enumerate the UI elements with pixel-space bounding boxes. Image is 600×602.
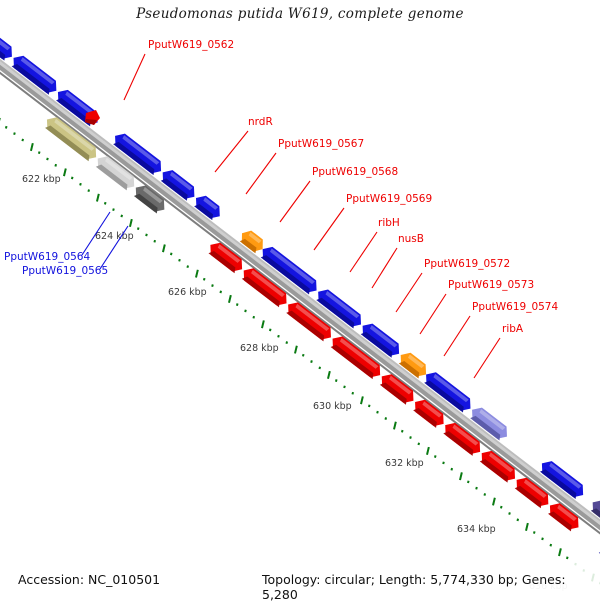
gene-label-ribh[interactable]: ribH (378, 217, 400, 229)
annotation-leader-line (280, 181, 310, 222)
annotation-leader-line (474, 338, 500, 378)
annotation-leader-line (314, 208, 344, 250)
genome-map-canvas[interactable]: Pseudomonas putida W619, complete genome… (0, 0, 600, 600)
gene-blue-u1[interactable] (0, 27, 12, 61)
ruler-tick-label: 632 kbp (385, 458, 424, 469)
gene-label-pputw619-0564[interactable]: PputW619_0564 (4, 251, 90, 263)
gene-label-pputw619-0567[interactable]: PputW619_0567 (278, 138, 364, 150)
gene-label-pputw619-0568[interactable]: PputW619_0568 (312, 166, 398, 178)
gene-label-nusb[interactable]: nusB (398, 233, 424, 245)
annotation-leader-line (444, 316, 470, 356)
gene-label-pputw619-0573[interactable]: PputW619_0573 (448, 279, 534, 291)
gene-label-riba[interactable]: ribA (502, 323, 524, 335)
gene-label-pputw619-0572[interactable]: PputW619_0572 (424, 258, 510, 270)
accession-text: Accession: NC_010501 (18, 572, 160, 587)
ruler-tick-label: 624 kbp (95, 231, 134, 242)
ruler-tick-label: 622 kbp (22, 174, 61, 185)
ruler-tick-labels: 622 kbp624 kbp626 kbp628 kbp630 kbp632 k… (22, 174, 568, 592)
annotation-leader-line (350, 232, 377, 272)
ruler-tick-label: 628 kbp (240, 343, 279, 354)
gene-label-pputw619-0562[interactable]: PputW619_0562 (148, 39, 234, 51)
status-bar: Accession: NC_010501 Topology: circular;… (0, 562, 600, 600)
annotation-leader-line (372, 248, 397, 288)
ruler-tick-label: 630 kbp (313, 401, 352, 412)
gene-annotations[interactable]: PputW619_0562nrdRPputW619_0567PputW619_0… (4, 39, 558, 378)
gene-label-nrdr[interactable]: nrdR (248, 116, 273, 128)
gene-label-pputw619-0565[interactable]: PputW619_0565 (22, 265, 108, 277)
annotation-leader-line (124, 54, 145, 100)
gene-label-pputw619-0569[interactable]: PputW619_0569 (346, 193, 432, 205)
annotation-leader-line (396, 273, 422, 312)
topology-text: Topology: circular; Length: 5,774,330 bp… (262, 572, 600, 602)
annotation-leader-line (246, 153, 276, 194)
ruler-tick-label: 634 kbp (457, 524, 496, 535)
annotation-leader-line (420, 294, 446, 334)
genome-diagram[interactable]: 622 kbp624 kbp626 kbp628 kbp630 kbp632 k… (0, 0, 600, 600)
gene-label-pputw619-0574[interactable]: PputW619_0574 (472, 301, 558, 313)
annotation-leader-line (215, 131, 248, 172)
ruler-tick-label: 626 kbp (168, 287, 207, 298)
